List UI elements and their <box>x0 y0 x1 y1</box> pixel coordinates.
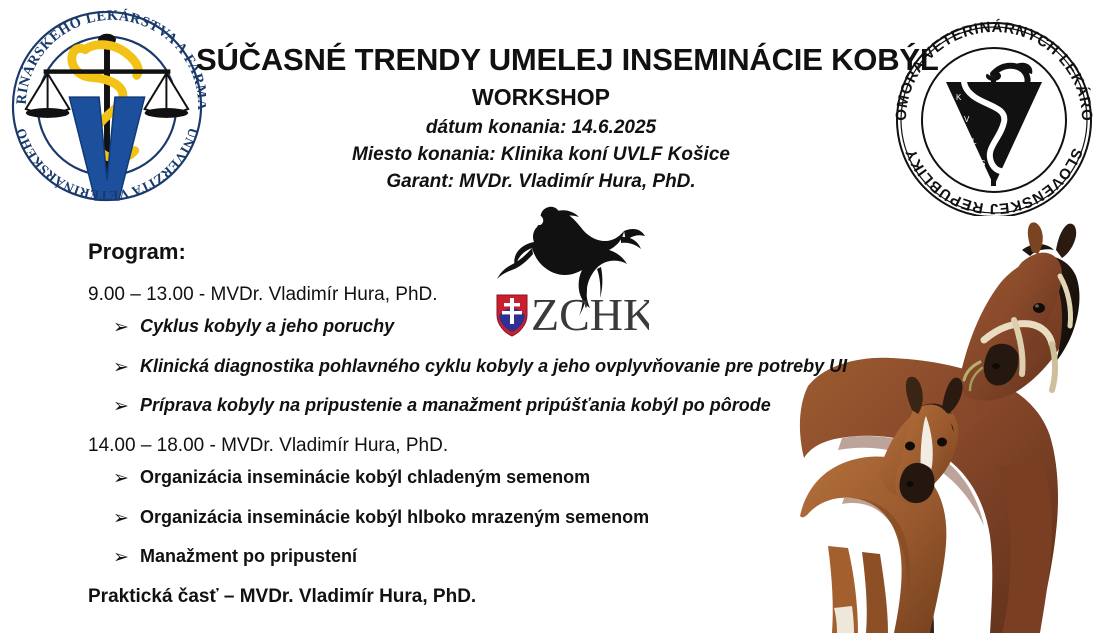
mare-and-foal-photo <box>784 216 1117 633</box>
list-item-label: Organizácia inseminácie kobýl chladeným … <box>140 467 590 487</box>
list-item: ➢ Cyklus kobyly a jeho poruchy <box>88 316 788 337</box>
svg-text:V: V <box>964 115 970 124</box>
list-item: ➢ Organizácia inseminácie kobýl chladený… <box>88 467 788 488</box>
list-item-label: Cyklus kobyly a jeho poruchy <box>140 316 394 336</box>
uvlf-kosice-logo: UNIVERZITA VETERINÁRSKEHO LEKÁRSTVA A FA… <box>8 2 206 210</box>
session-one-time: 9.00 – 13.00 - MVDr. Vladimír Hura, PhD. <box>88 284 788 306</box>
bullet-arrow-icon: ➢ <box>113 508 129 530</box>
practical-part-line: Praktická časť – MVDr. Vladimír Hura, Ph… <box>88 586 788 608</box>
list-item: ➢ Organizácia inseminácie kobýl hlboko m… <box>88 507 788 528</box>
bullet-arrow-icon: ➢ <box>113 357 129 379</box>
workshop-subtitle: WORKSHOP <box>196 84 886 112</box>
bullet-arrow-icon: ➢ <box>113 547 129 569</box>
kvlsr-inner-letters: K <box>956 93 962 102</box>
program-heading: Program: <box>88 240 788 264</box>
bullet-arrow-icon: ➢ <box>113 396 129 418</box>
list-item: ➢ Manažment po pripustení <box>88 546 788 567</box>
list-item-label: Manažment po pripustení <box>140 546 357 566</box>
event-venue-line: Miesto konania: Klinika koní UVLF Košice <box>196 142 886 169</box>
event-guarantor-line: Garant: MVDr. Vladimír Hura, PhD. <box>196 169 886 196</box>
list-item-label: Príprava kobyly na pripustenie a manažme… <box>140 395 771 415</box>
program-section: Program: 9.00 – 13.00 - MVDr. Vladimír H… <box>88 240 788 608</box>
poster-header: SÚČASNÉ TRENDY UMELEJ INSEMINÁCIE KOBÝL … <box>196 42 886 196</box>
mare-eye <box>1033 303 1045 313</box>
bullet-arrow-icon: ➢ <box>113 317 129 339</box>
session-two-time: 14.00 – 18.00 - MVDr. Vladimír Hura, PhD… <box>88 435 788 457</box>
poster-canvas: UNIVERZITA VETERINÁRSKEHO LEKÁRSTVA A FA… <box>0 0 1117 633</box>
session-one-topics: ➢ Cyklus kobyly a jeho poruchy ➢ Klinick… <box>88 316 788 416</box>
foal-eye-right <box>937 438 947 447</box>
page-title: SÚČASNÉ TRENDY UMELEJ INSEMINÁCIE KOBÝL <box>196 42 886 79</box>
list-item: ➢ Klinická diagnostika pohlavného cyklu … <box>88 356 788 377</box>
svg-text:S: S <box>980 159 985 168</box>
svg-text:L: L <box>972 137 977 146</box>
list-item: ➢ Príprava kobyly na pripustenie a manaž… <box>88 395 788 416</box>
list-item-label: Organizácia inseminácie kobýl hlboko mra… <box>140 507 649 527</box>
bullet-arrow-icon: ➢ <box>113 468 129 490</box>
session-two-topics: ➢ Organizácia inseminácie kobýl chladený… <box>88 467 788 567</box>
foal-eye-left <box>905 442 915 451</box>
list-item-label: Klinická diagnostika pohlavného cyklu ko… <box>140 356 847 376</box>
event-date-line: dátum konania: 14.6.2025 <box>196 115 886 142</box>
